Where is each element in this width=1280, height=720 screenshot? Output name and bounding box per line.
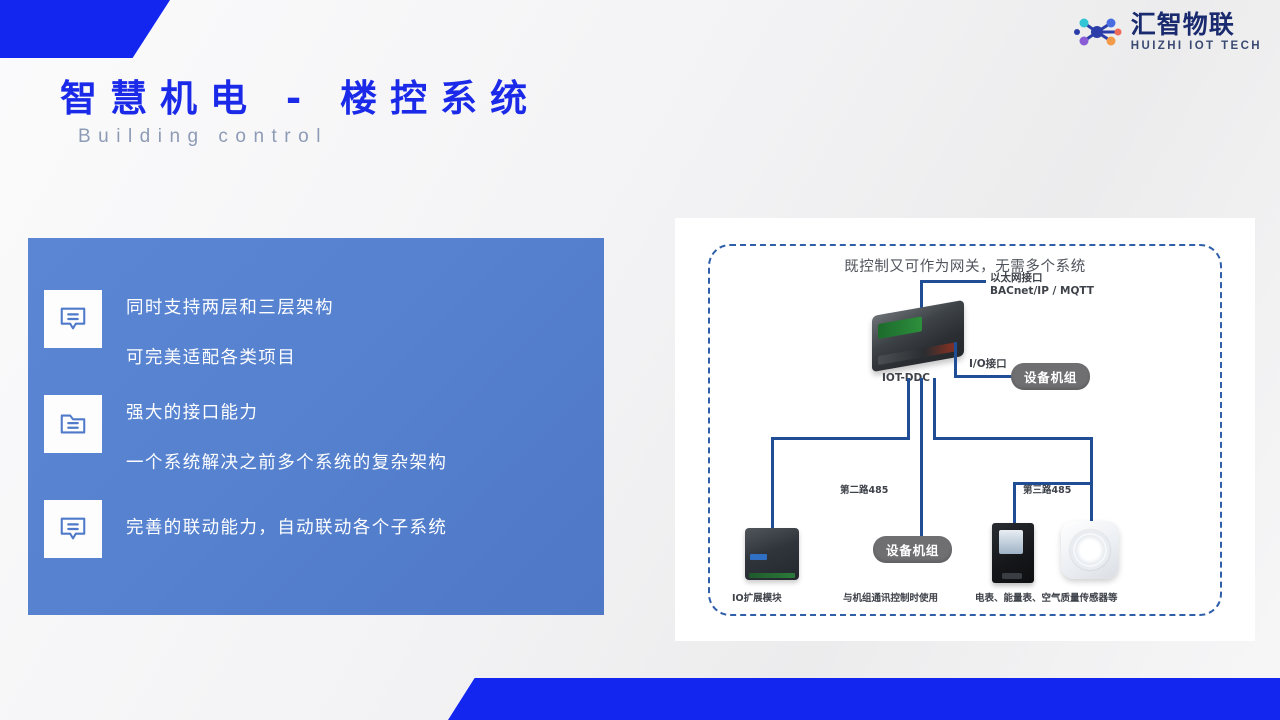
pill-equipment-unit-485: 设备机组 bbox=[873, 536, 952, 563]
feature-item-2: 强大的接口能力 一个系统解决之前多个系统的复杂架构 bbox=[28, 395, 604, 474]
io-expansion-module-image bbox=[745, 528, 799, 580]
feature-line: 完善的联动能力，自动联动各个子系统 bbox=[126, 514, 447, 539]
pill-equipment-unit-io: 设备机组 bbox=[1011, 363, 1090, 390]
molecule-network-icon bbox=[1074, 12, 1122, 52]
wire-branch-right-horizontal bbox=[933, 437, 1093, 440]
label-ethernet-interface: 以太网接口 bbox=[990, 270, 1043, 285]
feature-item-3: 完善的联动能力，自动联动各个子系统 bbox=[28, 500, 604, 558]
label-meters-sensors: 电表、能量表、空气质量传感器等 bbox=[975, 590, 1118, 604]
corner-accent-bottom bbox=[448, 678, 1280, 720]
label-485-second: 第二路485 bbox=[840, 482, 888, 496]
speech-bubble-icon bbox=[44, 500, 102, 558]
feature-line: 强大的接口能力 bbox=[126, 399, 447, 424]
page-title-cn: 智慧机电 - 楼控系统 bbox=[60, 68, 540, 122]
wire-bus-right bbox=[933, 378, 936, 440]
label-io-interface: I/O接口 bbox=[969, 356, 1007, 371]
diagram-card: 既控制又可作为网关，无需多个系统 以太网接口 BACnet/IP / MQTT … bbox=[675, 218, 1255, 641]
feature-item-3-texts: 完善的联动能力，自动联动各个子系统 bbox=[126, 500, 447, 539]
folder-document-icon bbox=[44, 395, 102, 453]
label-485-third: 第三路485 bbox=[1023, 482, 1071, 496]
wire-bus-middle bbox=[920, 378, 923, 440]
wire-branch-left-vertical bbox=[771, 437, 774, 529]
feature-line: 一个系统解决之前多个系统的复杂架构 bbox=[126, 449, 447, 474]
brand-name-cn: 汇智物联 bbox=[1131, 12, 1235, 37]
wire-branch-left-horizontal bbox=[771, 437, 910, 440]
energy-meter-image bbox=[992, 523, 1034, 583]
feature-line: 同时支持两层和三层架构 bbox=[126, 294, 334, 319]
brand-text: 汇智物联 HUIZHI IOT TECH bbox=[1131, 12, 1262, 53]
corner-accent-top-left bbox=[0, 0, 170, 58]
wire-branch-right-vertical bbox=[1090, 437, 1093, 525]
feature-item-1-texts: 同时支持两层和三层架构 可完美适配各类项目 bbox=[126, 290, 334, 369]
wire-io-vertical bbox=[954, 342, 957, 378]
wire-meter-vertical bbox=[1013, 482, 1016, 526]
wire-branch-middle-vertical bbox=[920, 437, 923, 541]
wire-io-horizontal bbox=[954, 375, 1016, 378]
air-quality-sensor-ring bbox=[1070, 530, 1110, 570]
diagram-caption: 既控制又可作为网关，无需多个系统 bbox=[835, 255, 1095, 276]
label-equipment-comm-note: 与机组通讯控制时使用 bbox=[843, 590, 938, 604]
speech-bubble-icon bbox=[44, 290, 102, 348]
brand-logo: 汇智物联 HUIZHI IOT TECH bbox=[1074, 12, 1262, 53]
wire-bus-left bbox=[907, 378, 910, 440]
air-quality-sensor-image bbox=[1061, 521, 1119, 579]
feature-panel: 同时支持两层和三层架构 可完美适配各类项目 强大的接口能力 一个系统解决之前多个… bbox=[28, 238, 604, 615]
label-io-expansion-module: IO扩展模块 bbox=[732, 590, 782, 604]
feature-line: 可完美适配各类项目 bbox=[126, 344, 334, 369]
slide-root: 汇智物联 HUIZHI IOT TECH 智慧机电 - 楼控系统 Buildin… bbox=[0, 0, 1280, 720]
brand-name-en: HUIZHI IOT TECH bbox=[1131, 41, 1262, 53]
label-ethernet-protocols: BACnet/IP / MQTT bbox=[990, 285, 1094, 297]
page-title-en: Building control bbox=[78, 126, 328, 148]
feature-item-1: 同时支持两层和三层架构 可完美适配各类项目 bbox=[28, 290, 604, 369]
wire-ethernet-horizontal bbox=[920, 280, 986, 283]
feature-item-2-texts: 强大的接口能力 一个系统解决之前多个系统的复杂架构 bbox=[126, 395, 447, 474]
